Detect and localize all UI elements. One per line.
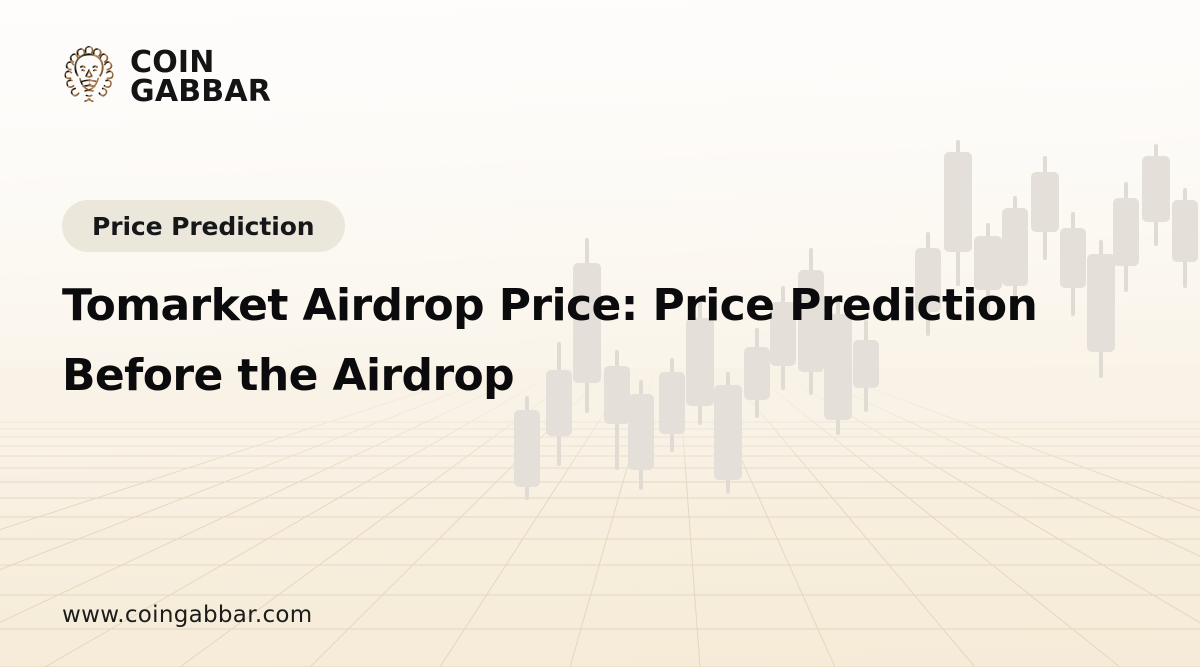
brand-wordmark: COIN GABBAR	[130, 48, 271, 107]
brand-name-line-2: GABBAR	[130, 77, 271, 106]
candle-body	[1172, 200, 1198, 262]
brand-name-line-1: COIN	[130, 48, 271, 77]
candle-wick	[1124, 182, 1128, 292]
candle-wick	[1183, 188, 1187, 288]
price-prediction-banner: COIN GABBAR Price Prediction Tomarket Ai…	[0, 0, 1200, 667]
category-badge[interactable]: Price Prediction	[62, 200, 345, 252]
candle-body	[1142, 156, 1170, 222]
candle-wick	[1154, 144, 1158, 246]
candle-body	[1113, 198, 1139, 266]
candle-body	[514, 410, 540, 487]
candle-wick	[1099, 240, 1103, 378]
page-title-line-1: Tomarket Airdrop Price: Price Prediction	[62, 271, 1072, 341]
candle-body	[1087, 254, 1115, 352]
candle-body	[944, 152, 972, 252]
site-url[interactable]: www.coingabbar.com	[62, 602, 312, 628]
category-badge-label: Price Prediction	[92, 212, 315, 241]
page-title-line-2: Before the Airdrop	[62, 341, 1072, 411]
candle-body	[1031, 172, 1059, 232]
page-title: Tomarket Airdrop Price: Price Prediction…	[62, 271, 1072, 412]
brand-logo[interactable]: COIN GABBAR	[59, 44, 271, 110]
candle-wick	[956, 140, 960, 286]
lion-head-icon	[59, 44, 119, 110]
candle-wick	[1043, 156, 1047, 260]
